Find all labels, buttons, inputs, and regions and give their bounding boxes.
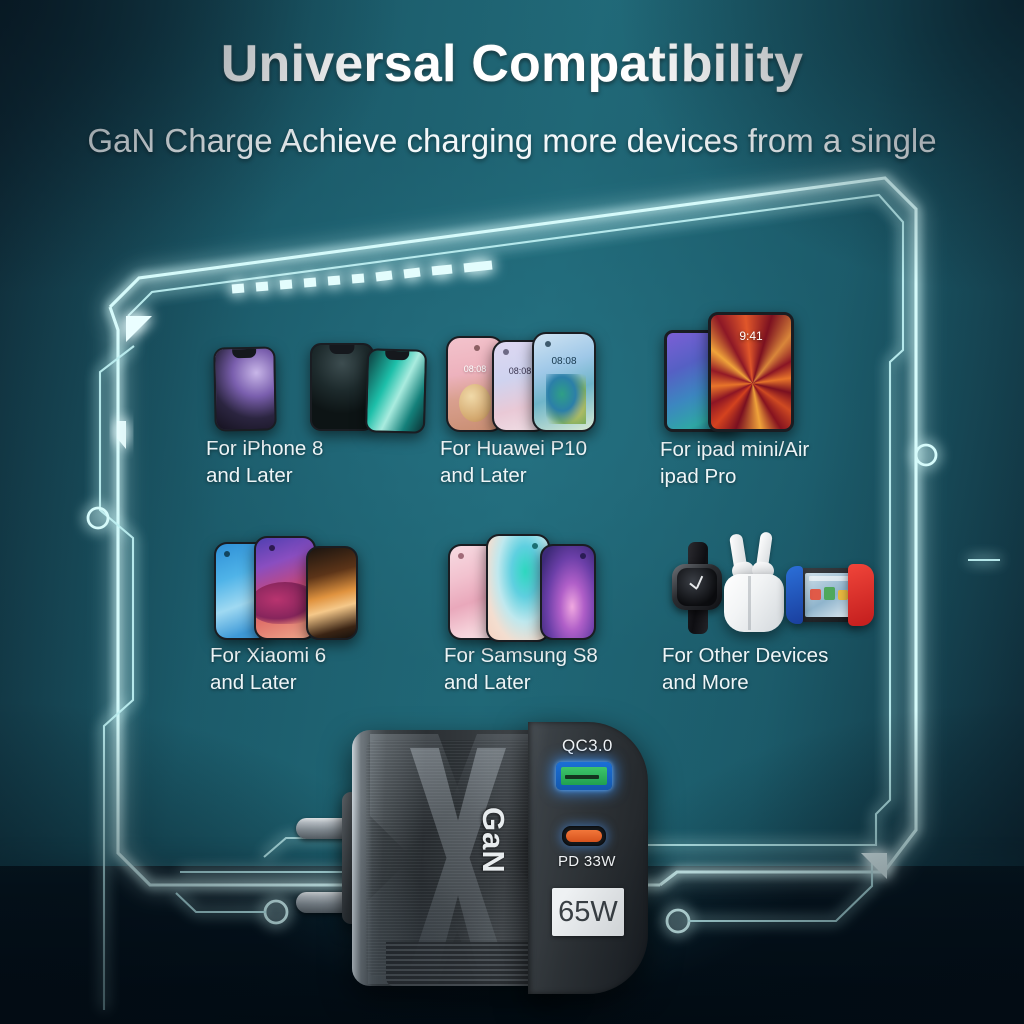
huawei-screen-time-3: 08:08: [534, 356, 594, 367]
compat-label: For Samsung S8 and Later: [444, 642, 674, 696]
compat-item-samsung: For Samsung S8 and Later: [444, 528, 674, 696]
product-infographic: Universal Compatibility GaN Charge Achie…: [0, 0, 1024, 1024]
huawei-trio-icon: 08:08 08:08 08:08: [440, 318, 670, 435]
corner-accent-top-left: [126, 316, 152, 342]
compat-label: For Other Devices and More: [662, 642, 912, 696]
samsung-trio-icon: [444, 528, 674, 642]
usb-c-label: PD 33W: [558, 853, 616, 870]
frame-node-right: [916, 445, 936, 465]
gan-brand-text: GaN: [475, 807, 511, 874]
compat-label: For Huawei P10 and Later: [440, 435, 670, 489]
power-rating-badge: 65W: [552, 888, 624, 936]
compat-item-iphone: For iPhone 8 and Later: [206, 327, 436, 489]
page-title: Universal Compatibility: [0, 34, 1024, 94]
earbuds-icon: [714, 532, 792, 636]
corner-accent-left-mid: [117, 421, 126, 449]
compat-label: For iPhone 8 and Later: [206, 435, 436, 489]
frame-node-left: [88, 508, 108, 528]
watch-earbuds-console-icon: [662, 528, 912, 642]
page-subtitle: GaN Charge Achieve charging more devices…: [0, 122, 1024, 160]
ipad-pair-icon: 9:41: [660, 300, 900, 436]
compat-item-huawei: 08:08 08:08 08:08 For Huawei P10 and Lat…: [440, 318, 670, 489]
compat-label: For Xiaomi 6 and Later: [210, 642, 440, 696]
game-console-icon: [786, 564, 878, 626]
xiaomi-trio-icon: [210, 528, 440, 642]
iphone-trio-icon: [206, 327, 436, 435]
compat-item-other-devices: For Other Devices and More: [662, 528, 912, 696]
usb-a-label: QC3.0: [562, 736, 613, 756]
charger-front-face: QC3.0 PD 33W 65W: [528, 722, 648, 994]
compat-item-xiaomi: For Xiaomi 6 and Later: [210, 528, 440, 696]
compat-label: For ipad mini/Air ipad Pro: [660, 436, 900, 490]
usb-c-port[interactable]: [562, 826, 606, 846]
ipad-screen-time: 9:41: [711, 329, 791, 343]
usb-a-port[interactable]: [556, 762, 612, 790]
compat-item-ipad: 9:41 For ipad mini/Air ipad Pro: [660, 300, 900, 490]
power-rating-value: 65W: [558, 896, 618, 929]
gan-charger-product: QC3.0 PD 33W 65W GaN: [296, 722, 648, 998]
